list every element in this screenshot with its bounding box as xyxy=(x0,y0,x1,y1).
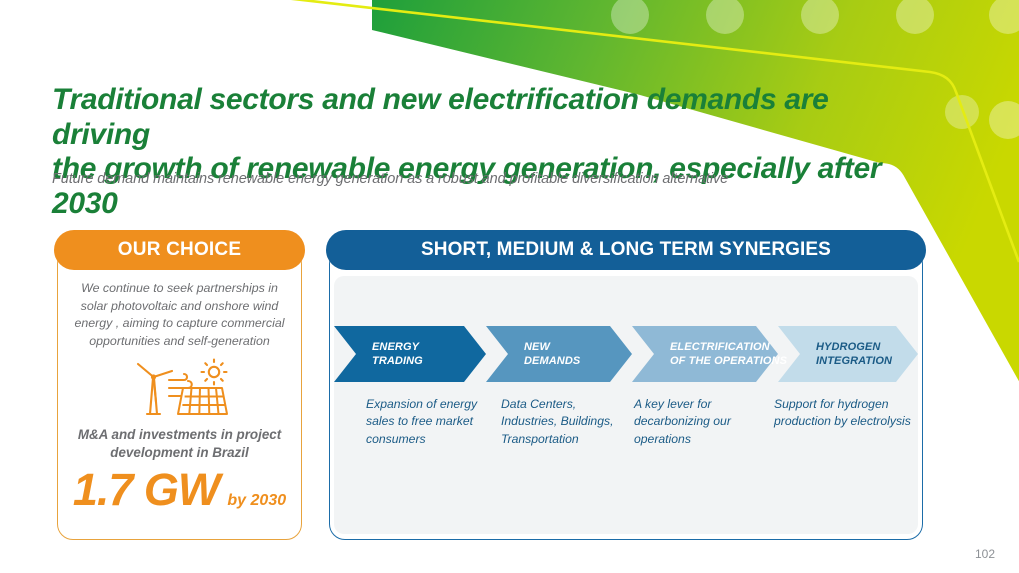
our-choice-metric-suffix: by 2030 xyxy=(227,492,286,510)
synergy-description-1: Expansion of energy sales to free market… xyxy=(366,396,501,448)
page-title-line1: Traditional sectors and new electrificat… xyxy=(52,83,829,151)
chevron-step-label-1: ENERGYTRADING xyxy=(372,341,423,369)
chevron-step-label-4: HYDROGENINTEGRATION xyxy=(816,341,892,369)
wind-turbine-solar-panel-icon xyxy=(128,358,232,416)
synergy-descriptions-row: Expansion of energy sales to free market… xyxy=(366,396,926,448)
slide-canvas: Traditional sectors and new electrificat… xyxy=(0,0,1019,573)
renewable-energy-icon-wrapper xyxy=(57,358,302,416)
synergy-steps-row: ENERGYTRADINGNEWDEMANDSELECTRIFICATIONOF… xyxy=(334,326,918,382)
our-choice-metric-value: 1.7 GW xyxy=(73,467,220,512)
chevron-step-label-2: NEWDEMANDS xyxy=(524,341,580,369)
our-choice-card-header: OUR CHOICE xyxy=(54,230,305,270)
our-choice-caption: M&A and investments in project developme… xyxy=(57,426,302,461)
our-choice-metric: 1.7 GW by 2030 xyxy=(57,467,302,512)
synergy-description-3: A key lever for decarbonizing our operat… xyxy=(634,396,774,448)
chevron-step-label-line2-2: DEMANDS xyxy=(524,355,580,369)
chevron-step-label-line1-1: ENERGY xyxy=(372,341,423,355)
chevron-step-label-line1-3: ELECTRIFICATION xyxy=(670,341,787,355)
chevron-step-label-line2-4: INTEGRATION xyxy=(816,355,892,369)
our-choice-lead-text: We continue to seek partnerships in sola… xyxy=(57,272,302,350)
synergy-description-4: Support for hydrogen production by elect… xyxy=(774,396,914,448)
chevron-step-label-3: ELECTRIFICATIONOF THE OPERATIONS xyxy=(670,341,787,369)
chevron-step-label-line1-4: HYDROGEN xyxy=(816,341,892,355)
chevron-step-label-line2-3: OF THE OPERATIONS xyxy=(670,355,787,369)
page-number: 102 xyxy=(975,547,995,561)
chevron-step-label-line1-2: NEW xyxy=(524,341,580,355)
chevron-step-label-line2-1: TRADING xyxy=(372,355,423,369)
page-title: Traditional sectors and new electrificat… xyxy=(52,83,932,221)
our-choice-card-body: We continue to seek partnerships in sola… xyxy=(57,272,302,512)
synergy-description-2: Data Centers, Industries, Buildings, Tra… xyxy=(501,396,634,448)
page-subtitle: Future demand maintains renewable energy… xyxy=(52,171,952,187)
synergies-card-header: SHORT, MEDIUM & LONG TERM SYNERGIES xyxy=(326,230,926,270)
